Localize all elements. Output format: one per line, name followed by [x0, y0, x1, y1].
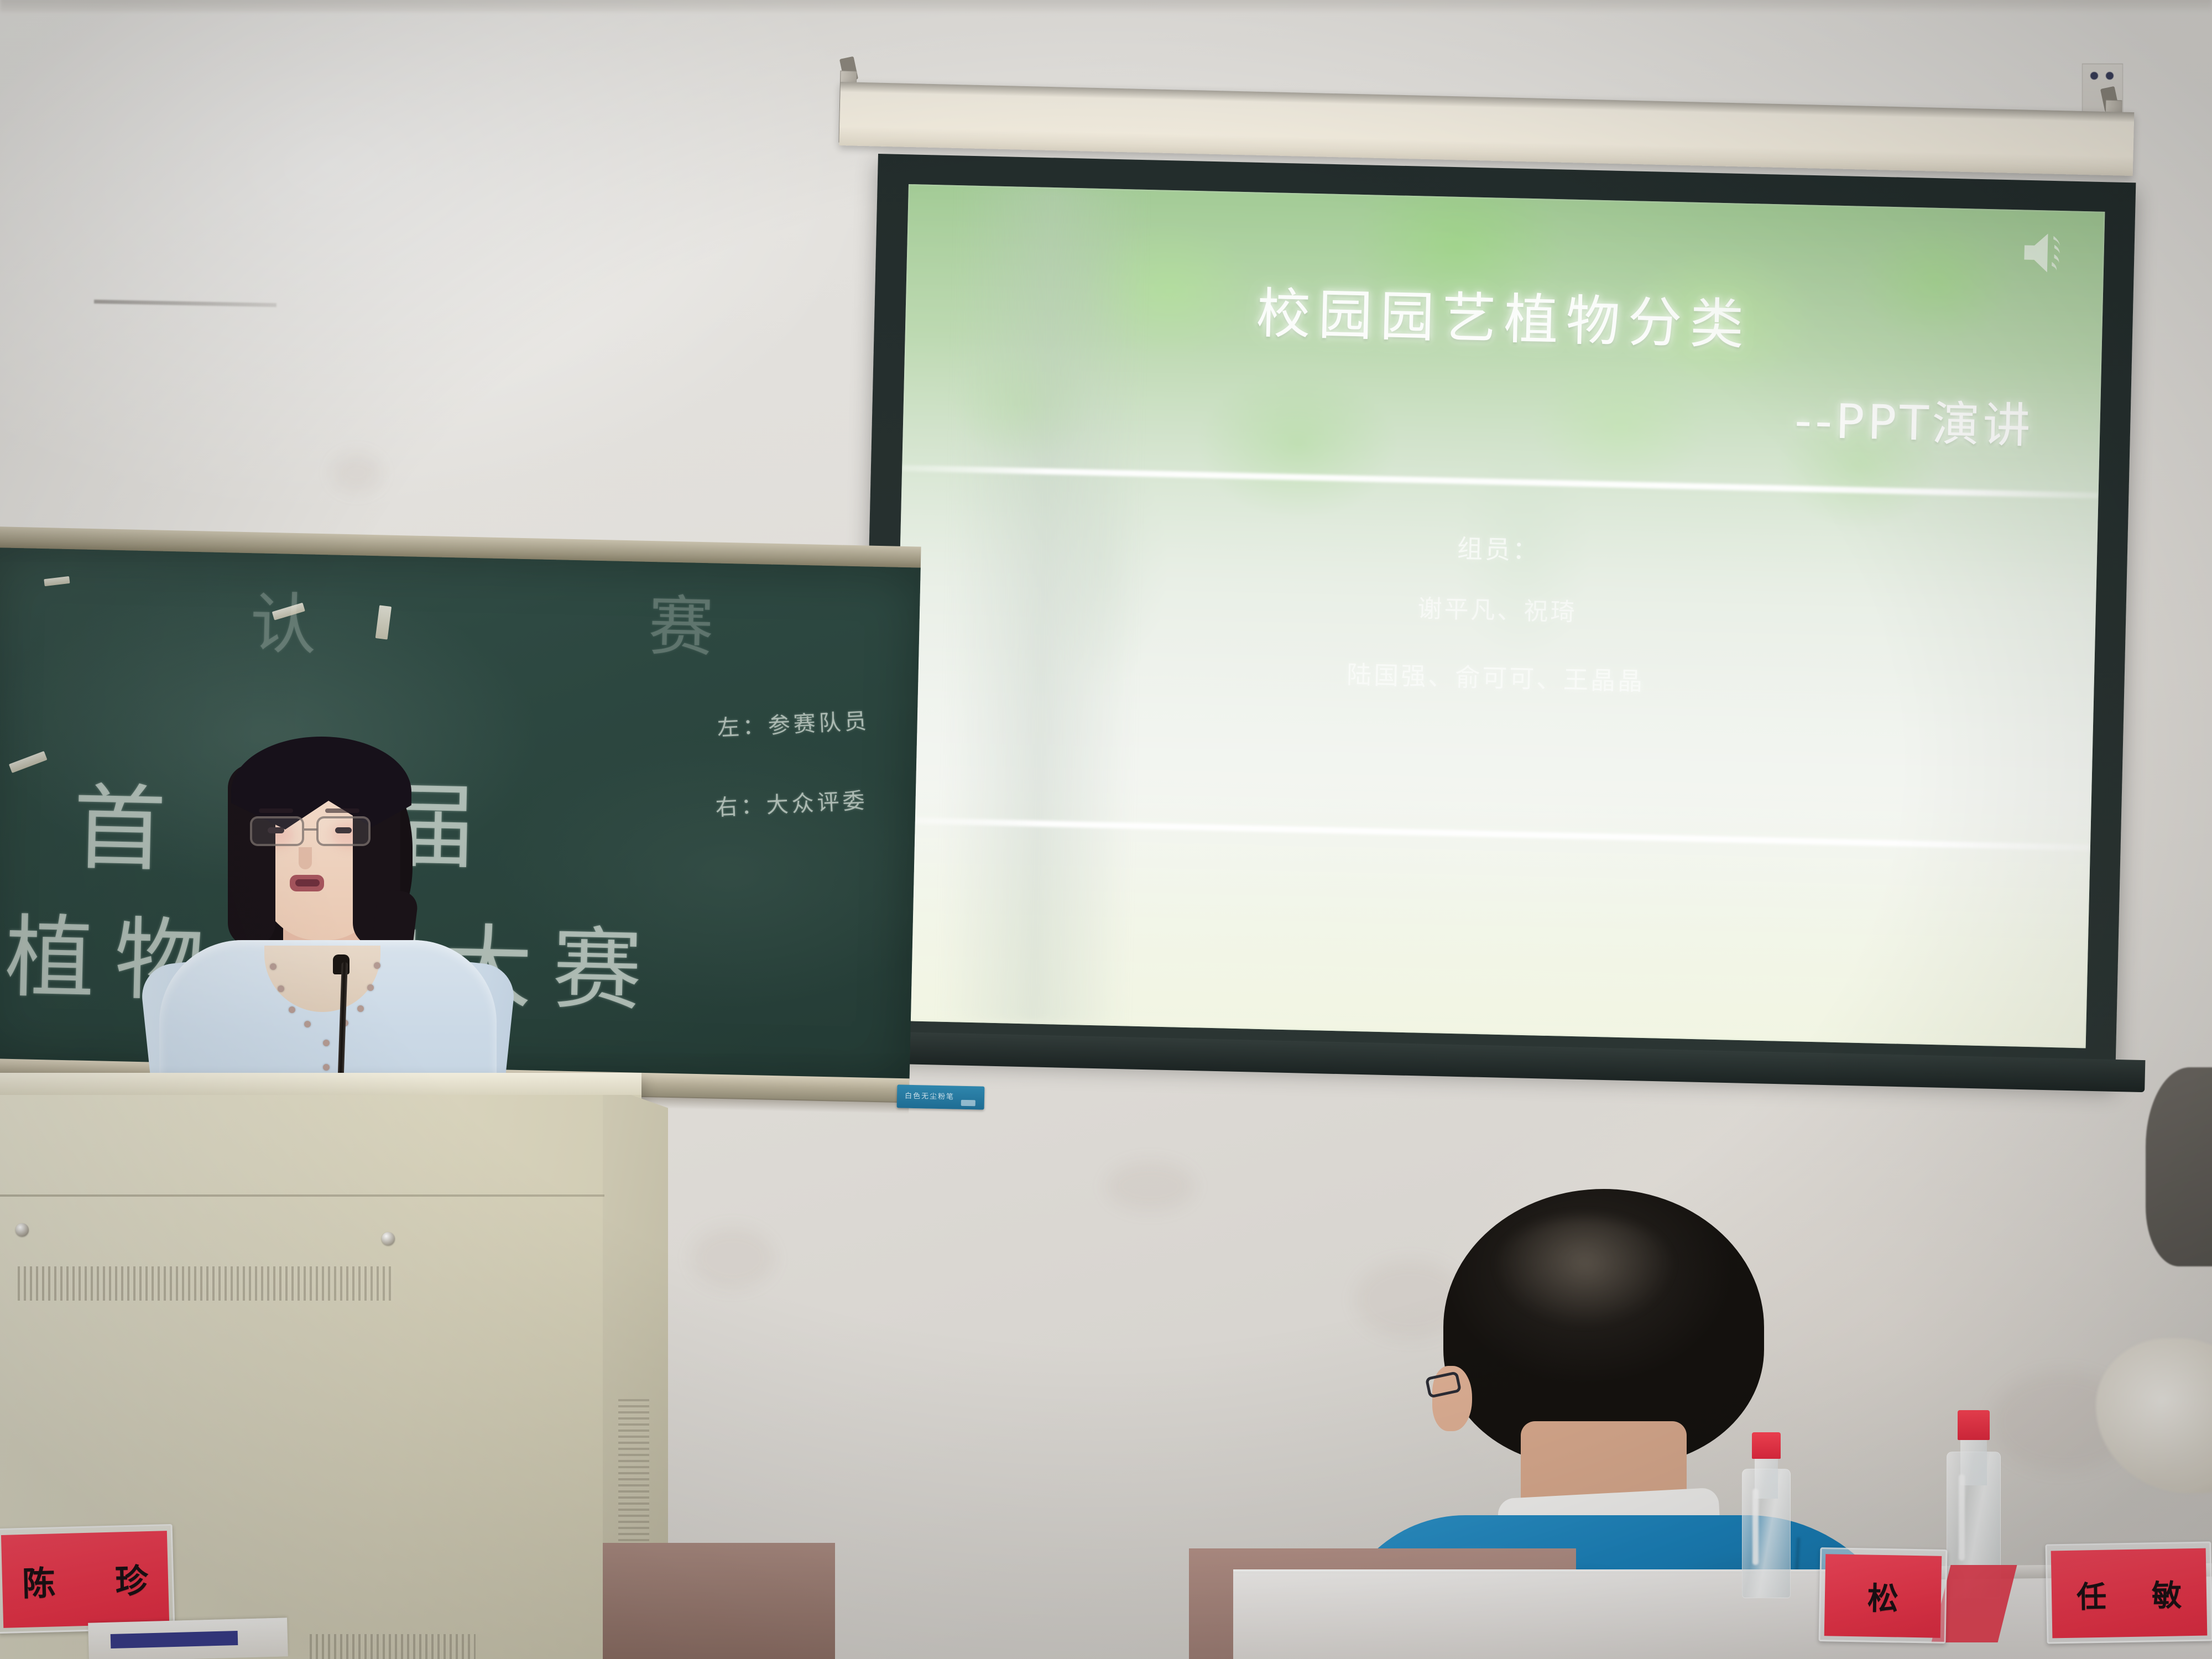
chalk-box-label: 白色无尘粉笔 [905, 1090, 954, 1102]
lectern-top-surface [0, 1073, 641, 1095]
lectern-screw-right [382, 1232, 395, 1245]
wooden-desk-edge [603, 1543, 835, 1659]
blouse-stud [374, 962, 380, 969]
wall-smudge [332, 453, 382, 492]
chalk-box-badge [961, 1100, 975, 1107]
name-plate[interactable]: 松 [1819, 1547, 1948, 1644]
presenter-eyebrow-right [325, 808, 359, 813]
eyeglasses-lens-left [250, 816, 304, 846]
speaker-icon [2021, 228, 2075, 277]
eyeglasses-lens-right [316, 816, 371, 846]
chalk-piece [9, 751, 48, 773]
wall-smudge [691, 1228, 774, 1288]
presentation-slide[interactable]: 校园园艺植物分类 --PPT演讲 组员： 谢平凡、祝琦 陆国强、俞可可、王晶晶 [889, 184, 2105, 1048]
name-plate-text: 陈 珍 [8, 1553, 162, 1605]
name-plate-card: 松 [1824, 1554, 1942, 1638]
name-plate-card: 陈 珍 [1, 1531, 169, 1628]
wall-smudge [1106, 1161, 1194, 1211]
presenter-person [133, 724, 520, 1123]
bottle-highlight [1752, 1489, 1759, 1565]
blouse-button [323, 1040, 330, 1046]
lectern-vent-horizontal [18, 1266, 394, 1301]
name-plate[interactable]: 陈 珍 [0, 1524, 175, 1634]
name-plate-text: 松 [1867, 1573, 1898, 1619]
lectern-vent-bottom [310, 1634, 476, 1659]
classroom-photo: 校园园艺植物分类 --PPT演讲 组员： 谢平凡、祝琦 陆国强、俞可可、王晶晶 … [0, 0, 2212, 1659]
blouse-stud [278, 985, 284, 992]
presenter-nose [299, 847, 312, 869]
ceiling-seam [0, 0, 2212, 12]
blackboard-ghost-text-2: 赛 [648, 573, 737, 669]
blackboard-note-left: 左：参赛队员 [716, 703, 870, 742]
eyeglasses-bridge [304, 828, 317, 831]
blouse-stud [270, 963, 276, 970]
chalk-piece [44, 576, 70, 586]
name-plate-card: 任 敏 [2051, 1548, 2208, 1639]
water-bottle[interactable] [1742, 1432, 1791, 1598]
bottle-cap [1958, 1410, 1990, 1440]
bottle-highlight [1959, 1474, 1965, 1561]
name-plate-text: 任 敏 [2068, 1571, 2189, 1616]
members-line-1: 谢平凡、祝琦 [899, 577, 2096, 640]
presenter-mouth-inner [295, 879, 320, 886]
blouse-stud [304, 1021, 311, 1027]
blouse-stud [289, 1006, 295, 1013]
audience-hair-sheen [1493, 1217, 1676, 1327]
lectern-panel-seam [0, 1194, 604, 1197]
lectern-screw-left [15, 1223, 29, 1237]
dark-object-right-edge [2146, 1067, 2212, 1266]
name-plate[interactable]: 任 敏 [2045, 1541, 2212, 1644]
blouse-stud [367, 984, 374, 991]
presenter-eyebrow-left [259, 808, 293, 813]
blackboard-note-right: 右：大众评委 [714, 782, 868, 822]
bottle-cap [1752, 1432, 1781, 1459]
blouse-stud [357, 1005, 364, 1012]
slide-members-block: 组员： 谢平凡、祝琦 陆国强、俞可可、王晶晶 [897, 516, 2097, 708]
chalk-box[interactable]: 白色无尘粉笔 [897, 1084, 985, 1109]
blouse-button [323, 1064, 330, 1071]
blackboard-ghost-text-1: 认 [249, 570, 340, 667]
slide-title-block: 校园园艺植物分类 --PPT演讲 [903, 262, 2103, 458]
chalk-piece [375, 605, 392, 639]
